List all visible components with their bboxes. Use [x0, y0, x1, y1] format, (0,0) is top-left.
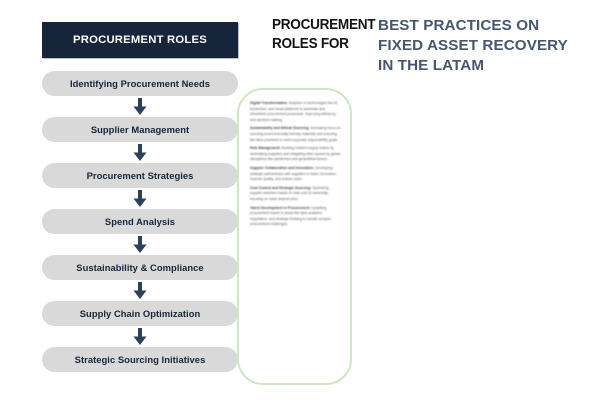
title-main-line-3: IN THE LATAM — [378, 56, 568, 76]
best-practices-detail-panel: Digital Transformation: Adoption of tech… — [237, 88, 352, 385]
arrow-down-icon — [133, 144, 147, 161]
title-lead-text: PROCUREMENT ROLES FOR — [272, 16, 369, 55]
detail-panel-content: Digital Transformation: Adoption of tech… — [239, 90, 350, 228]
arrow-down-icon — [133, 98, 147, 115]
detail-block-supplier-collaboration-innovation: Supplier Collaboration and Innovation: D… — [250, 166, 341, 183]
arrow-down-icon — [133, 282, 147, 299]
detail-block-talent-development: Talent Development in Procurement: Upski… — [250, 206, 341, 228]
flow-step-sustainability-and-compliance[interactable]: Sustainability & Compliance — [42, 255, 238, 280]
detail-block-risk-management: Risk Management: Building resilient supp… — [250, 146, 341, 163]
title-main-text: BEST PRACTICES ON FIXED ASSET RECOVERY I… — [378, 16, 568, 77]
detail-block-sustainability-ethical-sourcing: Sustainability and Ethical Sourcing: Inc… — [250, 126, 341, 143]
detail-block-lead: Risk Management: — [250, 146, 281, 150]
flow-step-spend-analysis[interactable]: Spend Analysis — [42, 209, 238, 234]
flowchart-header: PROCUREMENT ROLES — [42, 22, 238, 58]
title-main-line-1: BEST PRACTICES ON — [378, 16, 568, 36]
page-title: PROCUREMENT ROLES FOR BEST PRACTICES ON … — [272, 16, 568, 77]
flow-step-label: Strategic Sourcing Initiatives — [75, 354, 206, 365]
flow-step-label: Spend Analysis — [105, 216, 175, 227]
flowchart-steps: Identifying Procurement Needs Supplier M… — [42, 71, 238, 372]
flow-step-label: Sustainability & Compliance — [76, 262, 203, 273]
flow-step-supplier-management[interactable]: Supplier Management — [42, 117, 238, 142]
detail-block-lead: Supplier Collaboration and Innovation: — [250, 166, 314, 170]
detail-block-lead: Sustainability and Ethical Sourcing: — [250, 126, 309, 130]
detail-block-digital-transformation: Digital Transformation: Adoption of tech… — [250, 101, 341, 123]
flow-step-strategic-sourcing-initiatives[interactable]: Strategic Sourcing Initiatives — [42, 347, 238, 372]
title-main-line-2: FIXED ASSET RECOVERY — [378, 36, 568, 56]
detail-block-lead: Talent Development in Procurement: — [250, 206, 310, 210]
procurement-roles-flowchart: PROCUREMENT ROLES Identifying Procuremen… — [42, 22, 238, 372]
detail-block-lead: Digital Transformation: — [250, 101, 288, 105]
flow-step-identifying-procurement-needs[interactable]: Identifying Procurement Needs — [42, 71, 238, 96]
flow-step-supply-chain-optimization[interactable]: Supply Chain Optimization — [42, 301, 238, 326]
flow-step-label: Procurement Strategies — [87, 170, 194, 181]
arrow-down-icon — [133, 190, 147, 207]
flow-step-label: Identifying Procurement Needs — [70, 78, 210, 89]
arrow-down-icon — [133, 328, 147, 345]
flow-step-label: Supplier Management — [91, 124, 189, 135]
detail-block-lead: Cost Control and Strategic Sourcing: — [250, 186, 311, 190]
arrow-down-icon — [133, 236, 147, 253]
flow-step-label: Supply Chain Optimization — [80, 308, 201, 319]
detail-block-cost-control-strategic-sourcing: Cost Control and Strategic Sourcing: Opt… — [250, 186, 341, 203]
flow-step-procurement-strategies[interactable]: Procurement Strategies — [42, 163, 238, 188]
flowchart-header-label: PROCUREMENT ROLES — [73, 34, 207, 46]
